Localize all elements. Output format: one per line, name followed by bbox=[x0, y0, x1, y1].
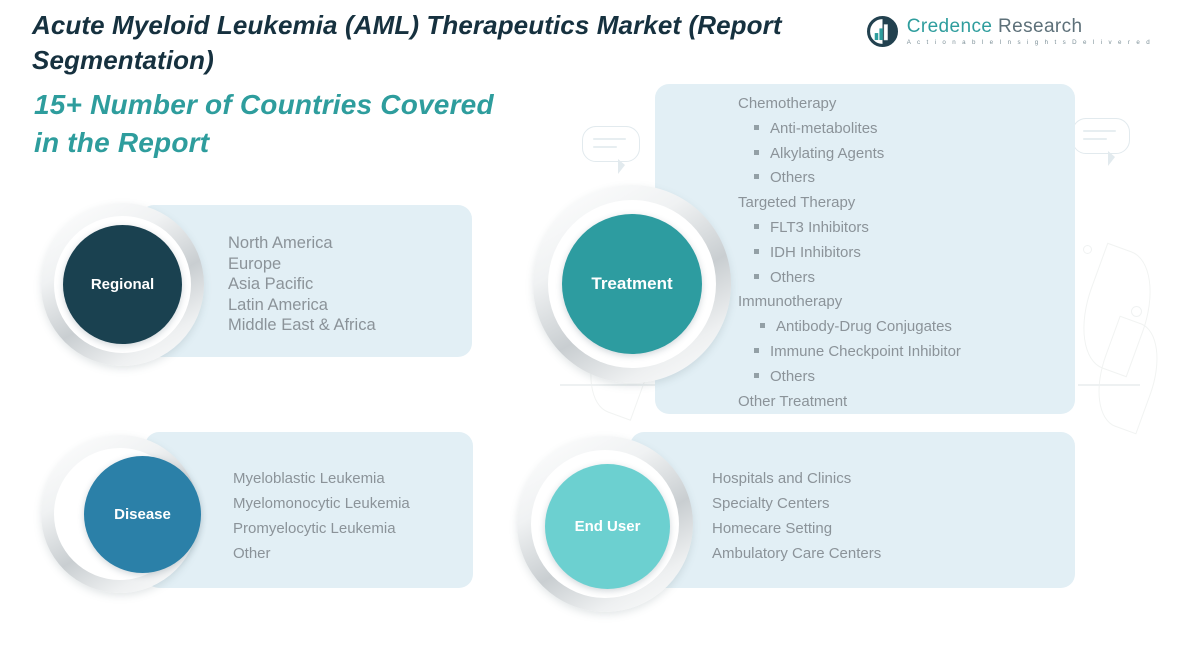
list-item: Other Treatment bbox=[738, 390, 961, 415]
brand-logo[interactable]: Credence Research A c t i o n a b l e I … bbox=[867, 16, 1152, 47]
list-item: Specialty Centers bbox=[712, 491, 881, 516]
list-item: Others bbox=[738, 166, 961, 191]
list-item-label: Myelomonocytic Leukemia bbox=[233, 491, 410, 516]
logo-name-primary: Credence bbox=[907, 16, 993, 37]
list-item-label: IDH Inhibitors bbox=[770, 241, 861, 266]
regional-label: Regional bbox=[91, 276, 154, 293]
treatment-circle[interactable]: Treatment bbox=[562, 214, 702, 354]
regional-list: North AmericaEuropeAsia PacificLatin Ame… bbox=[228, 233, 376, 336]
list-item-label: Chemotherapy bbox=[738, 92, 836, 117]
bullet-icon bbox=[754, 125, 759, 130]
credence-chart-circle-icon bbox=[867, 16, 898, 47]
list-item-label: Others bbox=[770, 166, 815, 191]
list-item-label: Ambulatory Care Centers bbox=[712, 541, 881, 566]
list-item: Others bbox=[738, 365, 961, 390]
enduser-list: Hospitals and ClinicsSpecialty CentersHo… bbox=[712, 466, 881, 566]
list-item: Myelomonocytic Leukemia bbox=[233, 491, 410, 516]
list-item-label: Targeted Therapy bbox=[738, 191, 855, 216]
list-item: North America bbox=[228, 233, 376, 254]
leaf-watermark-a bbox=[1066, 243, 1167, 378]
list-item-label: Antibody-Drug Conjugates bbox=[776, 315, 952, 340]
list-item-label: Promyelocytic Leukemia bbox=[233, 516, 396, 541]
list-item: Others bbox=[738, 266, 961, 291]
rule-watermark-right bbox=[1078, 384, 1140, 386]
list-item: Other bbox=[233, 541, 410, 566]
list-item: Chemotherapy bbox=[738, 92, 961, 117]
list-item: Anti-metabolites bbox=[738, 117, 961, 142]
list-item-label: Others bbox=[770, 266, 815, 291]
dot-watermark-a bbox=[1083, 245, 1092, 254]
bullet-icon bbox=[760, 323, 765, 328]
list-item-label: Others bbox=[770, 365, 815, 390]
list-item: Latin America bbox=[228, 295, 376, 316]
disease-label: Disease bbox=[114, 506, 171, 523]
list-item: Alkylating Agents bbox=[738, 142, 961, 167]
logo-text-block: Credence Research A c t i o n a b l e I … bbox=[907, 17, 1152, 46]
page-title: Acute Myeloid Leukemia (AML) Therapeutic… bbox=[32, 8, 912, 77]
logo-name-secondary: Research bbox=[992, 16, 1082, 37]
list-item-label: Hospitals and Clinics bbox=[712, 466, 851, 491]
page-subtitle: 15+ Number of Countries Covered in the R… bbox=[34, 86, 514, 163]
list-item: Promyelocytic Leukemia bbox=[233, 516, 410, 541]
bullet-icon bbox=[754, 249, 759, 254]
treatment-list: ChemotherapyAnti-metabolitesAlkylating A… bbox=[738, 92, 961, 414]
list-item-label: Alkylating Agents bbox=[770, 142, 884, 167]
speech-bubble-watermark-right bbox=[1072, 118, 1130, 154]
bullet-icon bbox=[754, 174, 759, 179]
list-item: IDH Inhibitors bbox=[738, 241, 961, 266]
list-item-label: Specialty Centers bbox=[712, 491, 830, 516]
enduser-circle[interactable]: End User bbox=[545, 464, 670, 589]
list-item: Hospitals and Clinics bbox=[712, 466, 881, 491]
list-item-label: Other Treatment bbox=[738, 390, 847, 415]
list-item-label: Myeloblastic Leukemia bbox=[233, 466, 385, 491]
list-item-label: Homecare Setting bbox=[712, 516, 832, 541]
dot-watermark-b bbox=[1131, 306, 1142, 317]
list-item-label: Other bbox=[233, 541, 271, 566]
list-item-label: Middle East & Africa bbox=[228, 315, 376, 336]
list-item: FLT3 Inhibitors bbox=[738, 216, 961, 241]
list-item-label: Immune Checkpoint Inhibitor bbox=[770, 340, 961, 365]
list-item-label: Anti-metabolites bbox=[770, 117, 878, 142]
leaf-watermark-b bbox=[1084, 316, 1173, 435]
rule-watermark-mid bbox=[560, 384, 656, 386]
list-item-label: Immunotherapy bbox=[738, 290, 842, 315]
bullet-icon bbox=[754, 348, 759, 353]
list-item-label: North America bbox=[228, 233, 333, 254]
list-item: Middle East & Africa bbox=[228, 315, 376, 336]
list-item-label: Europe bbox=[228, 254, 281, 275]
enduser-label: End User bbox=[575, 518, 641, 535]
list-item: Antibody-Drug Conjugates bbox=[738, 315, 961, 340]
treatment-label: Treatment bbox=[591, 274, 672, 294]
list-item: Myeloblastic Leukemia bbox=[233, 466, 410, 491]
list-item-label: Asia Pacific bbox=[228, 274, 313, 295]
list-item: Immune Checkpoint Inhibitor bbox=[738, 340, 961, 365]
speech-bubble-watermark-left bbox=[582, 126, 640, 162]
list-item: Immunotherapy bbox=[738, 290, 961, 315]
list-item: Asia Pacific bbox=[228, 274, 376, 295]
disease-circle[interactable]: Disease bbox=[84, 456, 201, 573]
list-item: Ambulatory Care Centers bbox=[712, 541, 881, 566]
list-item: Homecare Setting bbox=[712, 516, 881, 541]
regional-circle[interactable]: Regional bbox=[63, 225, 182, 344]
logo-name: Credence Research bbox=[907, 17, 1152, 36]
list-item-label: FLT3 Inhibitors bbox=[770, 216, 869, 241]
list-item: Targeted Therapy bbox=[738, 191, 961, 216]
bullet-icon bbox=[754, 373, 759, 378]
list-item: Europe bbox=[228, 254, 376, 275]
infographic-canvas: Acute Myeloid Leukemia (AML) Therapeutic… bbox=[0, 0, 1180, 647]
disease-list: Myeloblastic LeukemiaMyelomonocytic Leuk… bbox=[233, 466, 410, 566]
list-item-label: Latin America bbox=[228, 295, 328, 316]
logo-tagline: A c t i o n a b l e I n s i g h t s D e … bbox=[907, 40, 1152, 46]
bullet-icon bbox=[754, 224, 759, 229]
bullet-icon bbox=[754, 274, 759, 279]
bullet-icon bbox=[754, 150, 759, 155]
